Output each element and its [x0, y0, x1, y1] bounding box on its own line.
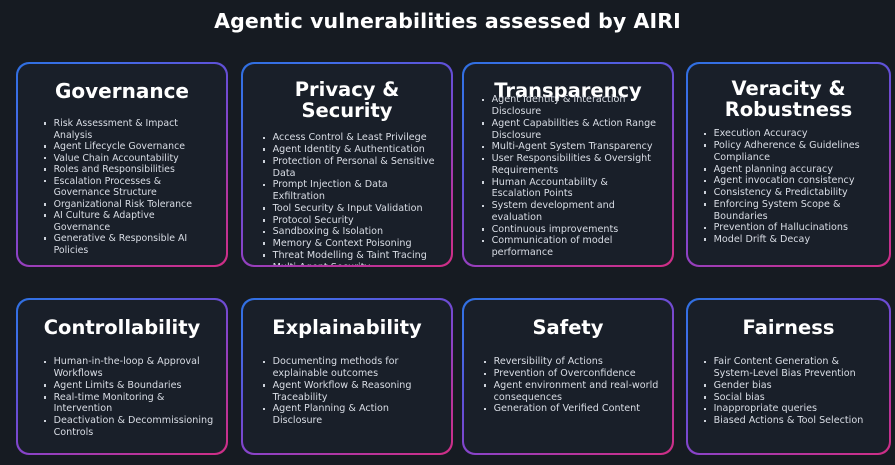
list-item: Real-time Monitoring & Intervention — [43, 392, 214, 416]
list-item: Communication of model performance — [481, 235, 660, 259]
list-item: Sandboxing & Isolation — [262, 226, 439, 238]
card-governance-body: Governance Risk Assessment & Impact Anal… — [18, 64, 227, 266]
list-item: Agent Planning & Action Disclosure — [262, 403, 439, 427]
card-explainability-body: Explainability Documenting methods for e… — [243, 300, 452, 454]
card-fairness-list: Fair Content Generation & System-Level B… — [697, 356, 881, 427]
list-item: Execution Accuracy — [703, 128, 877, 140]
card-explainability[interactable]: Explainability Documenting methods for e… — [241, 298, 453, 455]
card-controllability-title: Controllability — [27, 317, 218, 339]
card-governance[interactable]: Governance Risk Assessment & Impact Anal… — [16, 62, 228, 267]
list-item: Agent Limits & Boundaries — [43, 380, 214, 392]
list-item: Prevention of Overconfidence — [483, 368, 660, 380]
card-governance-title: Governance — [27, 80, 218, 102]
list-item: Continuous improvements — [481, 224, 660, 236]
list-item: Agent Capabilities & Action Range Disclo… — [481, 118, 660, 142]
list-item: Biased Actions & Tool Selection — [703, 415, 877, 427]
card-privacy-security-title: Privacy & Security — [252, 79, 443, 123]
card-veracity-robustness-body: Veracity & Robustness Execution Accuracy… — [688, 64, 890, 266]
card-fairness[interactable]: Fairness Fair Content Generation & Syste… — [686, 298, 891, 455]
list-item: Fair Content Generation & System-Level B… — [703, 356, 877, 380]
list-item: Prevention of Hallucinations — [703, 222, 877, 234]
list-item: Agent Identity & Interaction Disclosure — [481, 94, 660, 118]
card-privacy-security-list: Access Control & Least PrivilegeAgent Id… — [252, 132, 443, 265]
page-title: Agentic vulnerabilities assessed by AIRI — [0, 8, 895, 34]
list-item: Generative & Responsible AI Policies — [43, 233, 206, 256]
card-fairness-title: Fairness — [697, 317, 881, 339]
list-item: Prompt Injection & Data Exfiltration — [262, 179, 439, 203]
list-item: Threat Modelling & Taint Tracing — [262, 250, 439, 262]
card-safety-list: Reversibility of ActionsPrevention of Ov… — [473, 356, 664, 415]
card-privacy-security[interactable]: Privacy & Security Access Control & Leas… — [241, 62, 453, 267]
list-item: Access Control & Least Privilege — [262, 132, 439, 144]
list-item: Protection of Personal & Sensitive Data — [262, 156, 439, 180]
list-item: Protocol Security — [262, 215, 439, 227]
card-safety[interactable]: Safety Reversibility of ActionsPreventio… — [462, 298, 674, 455]
list-item: Consistency & Predictability — [703, 187, 877, 199]
slide-canvas: Agentic vulnerabilities assessed by AIRI… — [0, 0, 895, 465]
card-transparency-list: Agent Identity & Interaction DisclosureA… — [473, 94, 664, 259]
card-veracity-robustness-list: Execution AccuracyPolicy Adherence & Gui… — [697, 128, 881, 246]
card-transparency-body: Transparency Agent Identity & Interactio… — [464, 64, 673, 266]
card-explainability-title: Explainability — [252, 317, 443, 339]
list-item: Policy Adherence & Guidelines Compliance — [703, 140, 877, 164]
card-controllability[interactable]: Controllability Human-in-the-loop & Appr… — [16, 298, 228, 455]
list-item: Multi-Agent Security — [262, 262, 439, 266]
list-item: Model Drift & Decay — [703, 234, 877, 246]
list-item: AI Culture & Adaptive Governance — [43, 210, 206, 233]
card-governance-list: Risk Assessment & Impact AnalysisAgent L… — [27, 118, 218, 256]
list-item: Human Accountability & Escalation Points — [481, 177, 660, 201]
list-item: Risk Assessment & Impact Analysis — [43, 118, 206, 141]
list-item: Memory & Context Poisoning — [262, 238, 439, 250]
list-item: Agent invocation consistency — [703, 175, 877, 187]
card-controllability-list: Human-in-the-loop & Approval WorkflowsAg… — [27, 356, 218, 438]
list-item: Inappropriate queries — [703, 403, 877, 415]
list-item: Agent planning accuracy — [703, 164, 877, 176]
list-item: Tool Security & Input Validation — [262, 203, 439, 215]
list-item: Social bias — [703, 392, 877, 404]
card-transparency[interactable]: Transparency Agent Identity & Interactio… — [462, 62, 674, 267]
list-item: Deactivation & Decommissioning Controls — [43, 415, 214, 439]
list-item: System development and evaluation — [481, 200, 660, 224]
card-fairness-body: Fairness Fair Content Generation & Syste… — [688, 300, 890, 454]
list-item: User Responsibilities & Oversight Requir… — [481, 153, 660, 177]
card-safety-title: Safety — [473, 317, 664, 339]
card-veracity-robustness[interactable]: Veracity & Robustness Execution Accuracy… — [686, 62, 891, 267]
list-item: Organizational Risk Tolerance — [43, 199, 206, 211]
list-item: Agent Identity & Authentication — [262, 144, 439, 156]
card-explainability-list: Documenting methods for explainable outc… — [252, 356, 443, 427]
list-item: Value Chain Accountability — [43, 153, 206, 165]
card-veracity-robustness-title: Veracity & Robustness — [697, 78, 881, 122]
card-safety-body: Safety Reversibility of ActionsPreventio… — [464, 300, 673, 454]
list-item: Reversibility of Actions — [483, 356, 660, 368]
list-item: Documenting methods for explainable outc… — [262, 356, 439, 380]
list-item: Agent environment and real-world consequ… — [483, 380, 660, 404]
list-item: Agent Lifecycle Governance — [43, 141, 206, 153]
list-item: Gender bias — [703, 380, 877, 392]
list-item: Human-in-the-loop & Approval Workflows — [43, 356, 214, 380]
list-item: Multi-Agent System Transparency — [481, 141, 660, 153]
list-item: Escalation Processes & Governance Struct… — [43, 176, 206, 199]
list-item: Agent Workflow & Reasoning Traceability — [262, 380, 439, 404]
list-item: Roles and Responsibilities — [43, 164, 206, 176]
list-item: Generation of Verified Content — [483, 403, 660, 415]
card-controllability-body: Controllability Human-in-the-loop & Appr… — [18, 300, 227, 454]
card-privacy-security-body: Privacy & Security Access Control & Leas… — [243, 64, 452, 266]
list-item: Enforcing System Scope & Boundaries — [703, 199, 877, 223]
